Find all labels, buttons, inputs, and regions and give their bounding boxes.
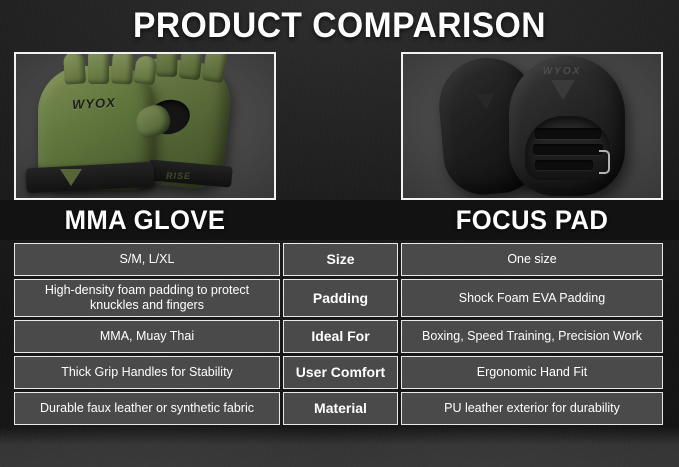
comparison-table: S/M, L/XL Size One size High-density foa… [14,243,663,425]
background-floor-gradient [0,427,679,467]
table-row: High-density foam padding to protect knu… [14,279,663,317]
focus-pad-brand-label: WYOX [531,66,593,77]
focus-pad-strap-slot [535,128,601,139]
glove-finger-icon [156,52,178,77]
glove-triangle-logo-icon [60,169,82,186]
table-cell-feature-name: User Comfort [283,356,398,389]
product-name-right: FOCUS PAD [408,200,657,240]
glove-finger-icon [133,55,157,85]
table-cell-right-value: PU leather exterior for durability [401,392,663,425]
table-cell-feature-name: Padding [283,279,398,317]
table-cell-right-value: One size [401,243,663,276]
glove-finger-icon [63,52,86,85]
table-cell-left-value: High-density foam padding to protect knu… [14,279,280,317]
product-name-left: MMA GLOVE [21,200,270,240]
focus-pad-image: WYOX [403,54,661,198]
product-image-panel-left: WYOX RISE [14,52,276,200]
table-cell-right-value: Ergonomic Hand Fit [401,356,663,389]
focus-pad-strap-slot [533,144,603,155]
table-cell-feature-name: Ideal For [283,320,398,353]
product-name-bar: MMA GLOVE FOCUS PAD [0,200,679,240]
table-cell-feature-name: Size [283,243,398,276]
focus-pad-buckle-icon [599,150,610,174]
table-cell-left-value: S/M, L/XL [14,243,280,276]
table-cell-left-value: Durable faux leather or synthetic fabric [14,392,280,425]
glove-finger-icon [179,52,204,80]
table-row: S/M, L/XL Size One size [14,243,663,276]
product-comparison-infographic: PRODUCT COMPARISON [0,0,679,467]
table-row: MMA, Muay Thai Ideal For Boxing, Speed T… [14,320,663,353]
focus-pad-back-triangle-logo-icon [476,93,495,110]
page-title: PRODUCT COMPARISON [14,4,666,48]
glove-finger-icon [111,52,134,85]
table-cell-left-value: Thick Grip Handles for Stability [14,356,280,389]
product-image-panels: WYOX RISE WYOX [14,52,663,200]
table-cell-left-value: MMA, Muay Thai [14,320,280,353]
mma-glove-image: WYOX RISE [16,54,274,198]
glove-illustration: WYOX RISE [16,54,274,198]
glove-sub-brand-label: RISE [166,171,191,181]
table-cell-feature-name: Material [283,392,398,425]
glove-finger-icon [202,52,228,83]
focus-pad-illustration: WYOX [403,54,661,198]
focus-pad-triangle-logo-icon [551,80,575,100]
glove-finger-icon [88,52,109,84]
table-cell-right-value: Boxing, Speed Training, Precision Work [401,320,663,353]
focus-pad-strap-slot [535,160,593,170]
table-row: Thick Grip Handles for Stability User Co… [14,356,663,389]
table-row: Durable faux leather or synthetic fabric… [14,392,663,425]
table-cell-right-value: Shock Foam EVA Padding [401,279,663,317]
product-image-panel-right: WYOX [401,52,663,200]
